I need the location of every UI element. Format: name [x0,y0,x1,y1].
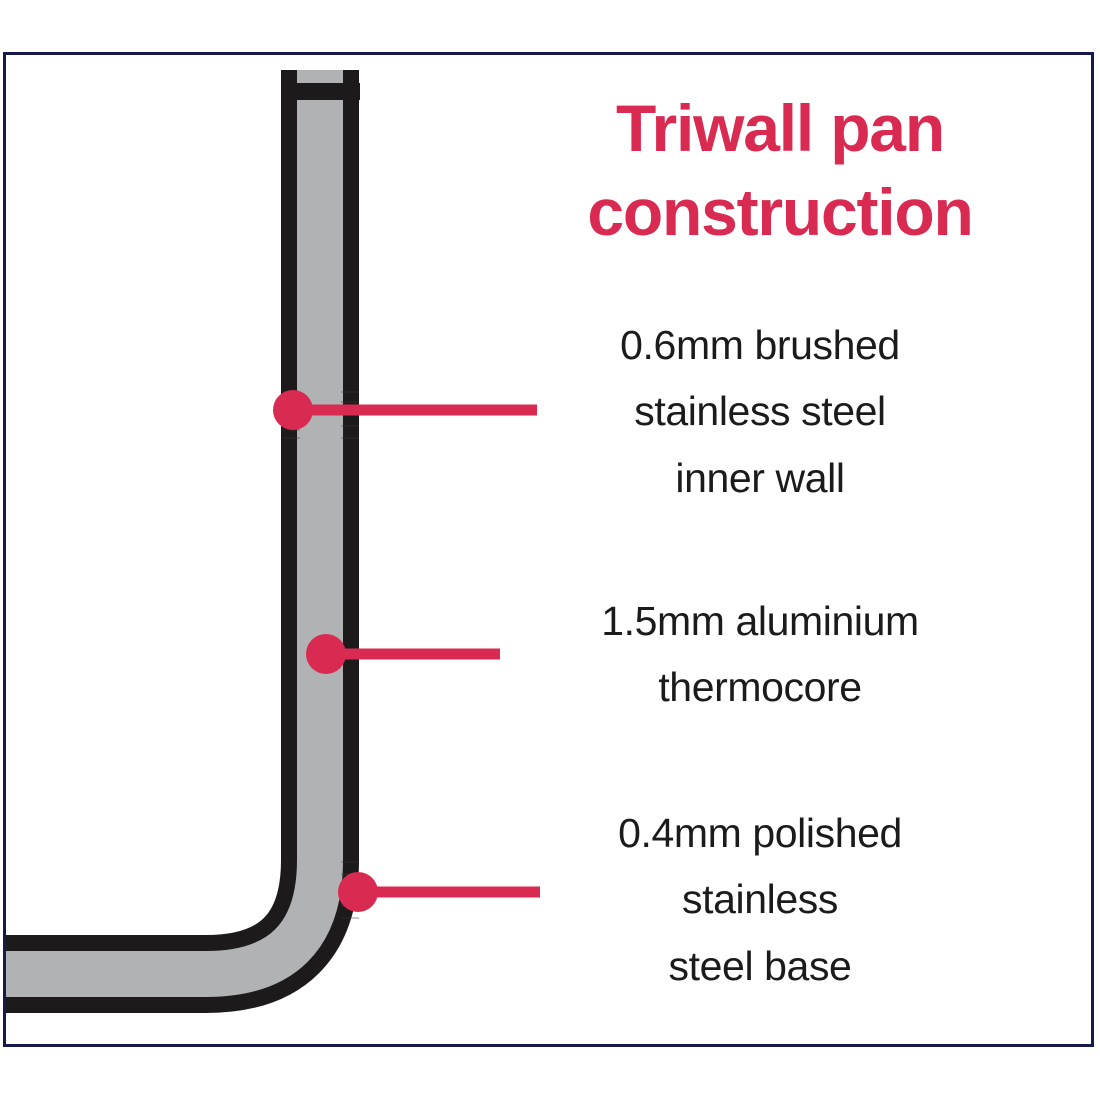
callout-3-line-1: 0.4mm polished [530,800,990,866]
page-title-line-2: construction [500,170,1060,254]
callout-1-line-2: stainless steel [530,378,990,444]
callout-3-line-2: stainless [530,866,990,932]
page-title-line-1: Triwall pan [500,86,1060,170]
callout-3-line-3: steel base [530,933,990,999]
infographic-canvas: Triwall pan construction 0.6mm brushed s… [0,0,1100,1100]
callout-2-line-2: thermocore [510,654,1010,720]
callout-2-line-1: 1.5mm aluminium [510,588,1010,654]
callout-label-base: 0.4mm polished stainless steel base [530,800,990,999]
callout-label-thermocore: 1.5mm aluminium thermocore [510,588,1010,721]
callout-label-inner-wall: 0.6mm brushed stainless steel inner wall [530,312,990,511]
callout-1-line-1: 0.6mm brushed [530,312,990,378]
callout-1-line-3: inner wall [530,445,990,511]
page-title: Triwall pan construction [500,86,1060,255]
